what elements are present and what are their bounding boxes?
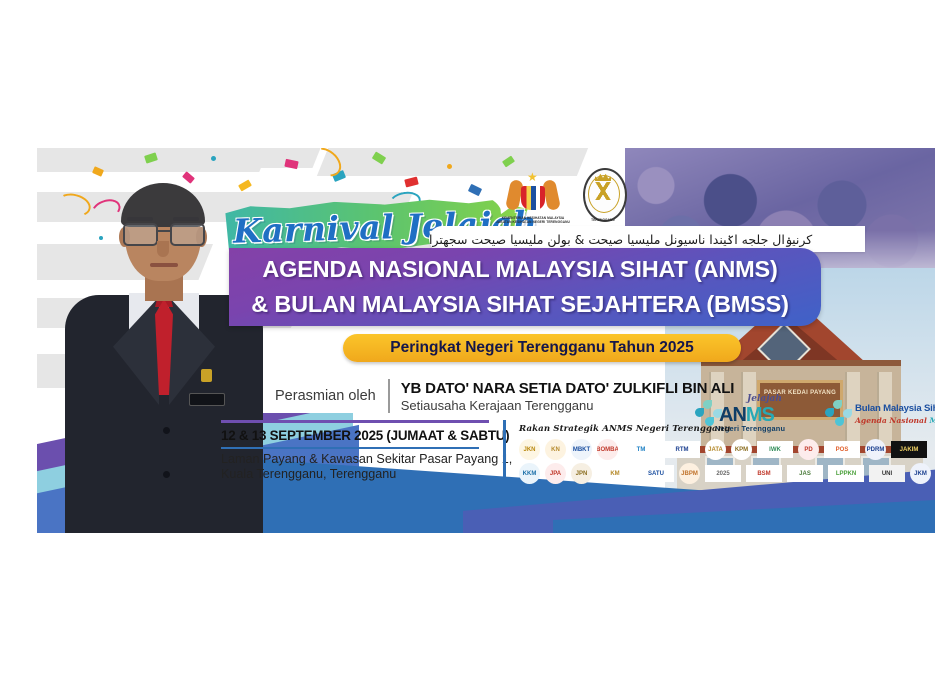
partners-row-2: KKMJPAJPNKMSATUJBPM2025BSMJASLPPKNUNIJKM… bbox=[519, 463, 935, 484]
partner-logo-jabatan-bomba: BOMBA bbox=[597, 439, 618, 460]
event-banner: PASAR KEDAI PAYANG bbox=[33, 148, 935, 533]
officiator-name: YB DATO' NARA SETIA DATO' ZULKIFLI BIN A… bbox=[401, 380, 734, 397]
partner-logo-iwk: IWK bbox=[757, 441, 793, 458]
partner-logo-jkn-terengganu: JKN bbox=[519, 439, 540, 460]
partner-logo-majlis-bandaraya: MBKT bbox=[571, 439, 592, 460]
partner-logo-kerajaan-malaysia: KM bbox=[597, 465, 633, 482]
partners-strip: Rakan Strategik ANMS Negeri Terengganu J… bbox=[519, 424, 935, 486]
partner-logo-kerajaan-negeri: KN bbox=[545, 439, 566, 460]
subtitle-pill-text: Peringkat Negeri Terengganu Tahun 2025 bbox=[390, 339, 693, 357]
partners-title: Rakan Strategik ANMS Negeri Terengganu bbox=[519, 424, 730, 434]
date-top-rule bbox=[221, 420, 489, 423]
officiator-block: Perasmian oleh YB DATO' NARA SETIA DATO'… bbox=[275, 376, 745, 416]
partner-logo-jata-negara: JATA bbox=[705, 439, 726, 460]
date-bottom-rule bbox=[221, 447, 479, 449]
partner-logo-tm: TM bbox=[623, 441, 659, 458]
partner-logo-pos-malaysia: POS bbox=[824, 441, 860, 458]
eyeglasses-icon bbox=[123, 223, 203, 242]
partner-logo-kementerian: KPM bbox=[731, 439, 752, 460]
partner-logo-jpa: JPA bbox=[545, 463, 566, 484]
event-details-block: 12 & 13 SEPTEMBER 2025 (JUMAAT & SABTU) … bbox=[221, 424, 511, 486]
event-venue-line2: Kuala Terengganu, Terengganu bbox=[221, 467, 396, 481]
partner-logo-jbpm: JBPM bbox=[679, 463, 700, 484]
kkm-crest-caption: KEMENTERIAN KESIHATAN MALAYSIA JABATAN K… bbox=[495, 216, 571, 225]
event-venue-line1: Laman Payang & Kawasan Sekitar Pasar Pay… bbox=[221, 452, 512, 466]
terengganu-state-crest: TERENGGANU bbox=[573, 166, 633, 222]
partner-logo-pdrm: PDRM bbox=[865, 439, 886, 460]
partner-logo-jabatan-alam-sekitar: JAS bbox=[787, 465, 823, 482]
partner-logo-jakim: JAKIM bbox=[891, 441, 927, 458]
kkm-jkn-crest: ★ KEMENTERIAN KESIHATAN MALAYSIA JABATAN… bbox=[503, 166, 563, 222]
screenshot-canvas: PASAR KEDAI PAYANG bbox=[0, 0, 952, 673]
kkm-caption-line2: JABATAN KESIHATAN NEGERI TERENGGANU bbox=[496, 220, 570, 224]
partner-logo-kkm: KKM bbox=[519, 463, 540, 484]
officiator-role: Setiausaha Kerajaan Terengganu bbox=[401, 398, 734, 413]
partners-row-1: JKNKNMBKTBOMBATMRTMJATAKPMIWKPDPOSPDRMJA… bbox=[519, 439, 927, 460]
main-title-line2: & BULAN MALAYSIA SIHAT SEJAHTERA (BMSS) bbox=[229, 286, 811, 322]
details-partners-divider bbox=[503, 420, 506, 484]
partner-logo-jkm: JKM bbox=[910, 463, 931, 484]
partner-logo-satu: SATU bbox=[638, 465, 674, 482]
partner-logo-anm-2025: 2025 bbox=[705, 465, 741, 482]
kkm-caption-line1: KEMENTERIAN KESIHATAN MALAYSIA bbox=[502, 216, 565, 220]
partner-logo-lppkn: LPPKN bbox=[828, 465, 864, 482]
partner-logo-pdrm-bulatan: PD bbox=[798, 439, 819, 460]
vertical-divider bbox=[388, 379, 390, 413]
state-crest-caption: TERENGGANU bbox=[565, 218, 641, 222]
jawi-title-text: كرنيۏال جلجه اݢيندا ناسيونل مليسيا صيحت … bbox=[429, 232, 812, 247]
anms-ms: MS bbox=[746, 404, 774, 426]
partner-logo-jpn: JPN bbox=[571, 463, 592, 484]
anms-an: AN bbox=[719, 404, 746, 426]
bmss-title: Bulan Malaysia Sihat Sejahtera bbox=[855, 403, 935, 414]
main-title-line1: AGENDA NASIONAL MALAYSIA SIHAT (ANMS) bbox=[229, 251, 811, 287]
partner-logo-rtm: RTM bbox=[664, 441, 700, 458]
event-date: 12 & 13 SEPTEMBER 2025 (JUMAAT & SABTU) bbox=[221, 428, 509, 443]
anms-jelajah-script: Jelajah bbox=[747, 394, 782, 404]
subtitle-pill: Peringkat Negeri Terengganu Tahun 2025 bbox=[343, 334, 741, 362]
partner-logo-bulan-sabit-merah: BSM bbox=[746, 465, 782, 482]
main-title-panel: AGENDA NASIONAL MALAYSIA SIHAT (ANMS) & … bbox=[229, 248, 821, 326]
partner-logo-universiti: UNI bbox=[869, 465, 905, 482]
officiate-lead-label: Perasmian oleh bbox=[275, 388, 388, 404]
